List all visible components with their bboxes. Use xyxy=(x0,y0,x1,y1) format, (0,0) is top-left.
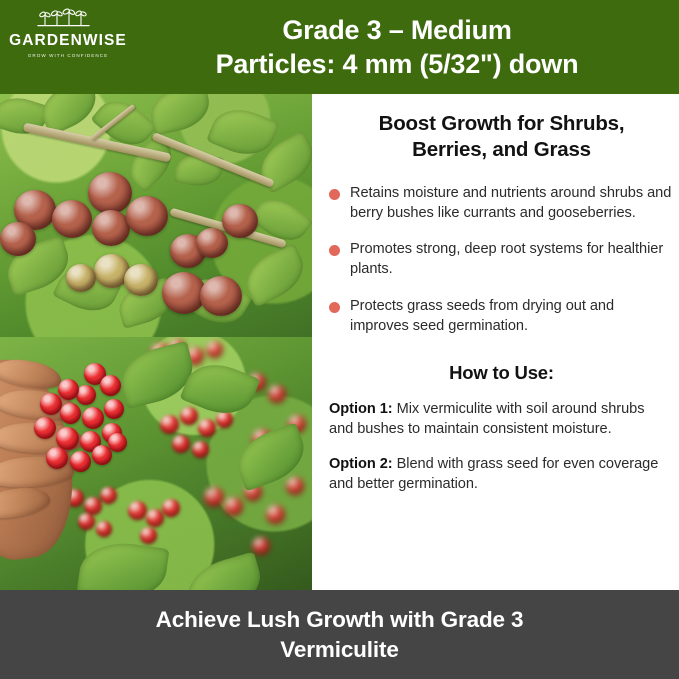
header-title-line-1: Grade 3 – Medium xyxy=(125,14,669,47)
content-heading-line-2: Berries, and Grass xyxy=(337,137,666,163)
footer-title: Achieve Lush Growth with Grade 3 Vermicu… xyxy=(96,605,584,664)
list-item: Protects grass seeds from drying out and… xyxy=(329,297,674,337)
content-heading: Boost Growth for Shrubs, Berries, and Gr… xyxy=(329,111,674,163)
content-column: Boost Growth for Shrubs, Berries, and Gr… xyxy=(312,94,679,590)
list-item: Retains moisture and nutrients around sh… xyxy=(329,184,674,224)
photo-column xyxy=(0,94,312,590)
bullet-dot-icon xyxy=(329,245,340,256)
gooseberries-photo xyxy=(0,94,312,337)
benefit-text: Promotes strong, deep root systems for h… xyxy=(350,240,674,280)
bullet-dot-icon xyxy=(329,189,340,200)
option-label: Option 2: xyxy=(329,456,393,472)
brand-name: GARDENWISE xyxy=(9,33,127,49)
how-to-use-heading: How to Use: xyxy=(329,362,674,384)
main-body: Boost Growth for Shrubs, Berries, and Gr… xyxy=(0,94,679,590)
product-infographic: GARDENWISE GROW WITH CONFIDENCE Grade 3 … xyxy=(0,0,679,679)
footer-title-line-2: Vermiculite xyxy=(156,635,524,664)
content-heading-line-1: Boost Growth for Shrubs, xyxy=(337,111,666,137)
brand-logo: GARDENWISE GROW WITH CONFIDENCE xyxy=(8,6,128,58)
benefit-text: Retains moisture and nutrients around sh… xyxy=(350,184,674,224)
brand-tagline: GROW WITH CONFIDENCE xyxy=(28,53,108,58)
red-currants-photo xyxy=(0,337,312,590)
footer-title-line-1: Achieve Lush Growth with Grade 3 xyxy=(156,605,524,634)
usage-option: Option 2: Blend with grass seed for even… xyxy=(329,455,674,495)
sprout-plants-icon xyxy=(33,6,103,32)
header-banner: GARDENWISE GROW WITH CONFIDENCE Grade 3 … xyxy=(0,0,679,94)
option-label: Option 1: xyxy=(329,401,393,417)
header-title-line-2: Particles: 4 mm (5/32") down xyxy=(125,48,669,81)
bullet-dot-icon xyxy=(329,302,340,313)
footer-banner: Achieve Lush Growth with Grade 3 Vermicu… xyxy=(0,590,679,679)
list-item: Promotes strong, deep root systems for h… xyxy=(329,240,674,280)
benefit-text: Protects grass seeds from drying out and… xyxy=(350,297,674,337)
gooseberries-foliage xyxy=(0,94,312,337)
benefits-list: Retains moisture and nutrients around sh… xyxy=(329,184,674,337)
usage-option: Option 1: Mix vermiculite with soil arou… xyxy=(329,400,674,440)
